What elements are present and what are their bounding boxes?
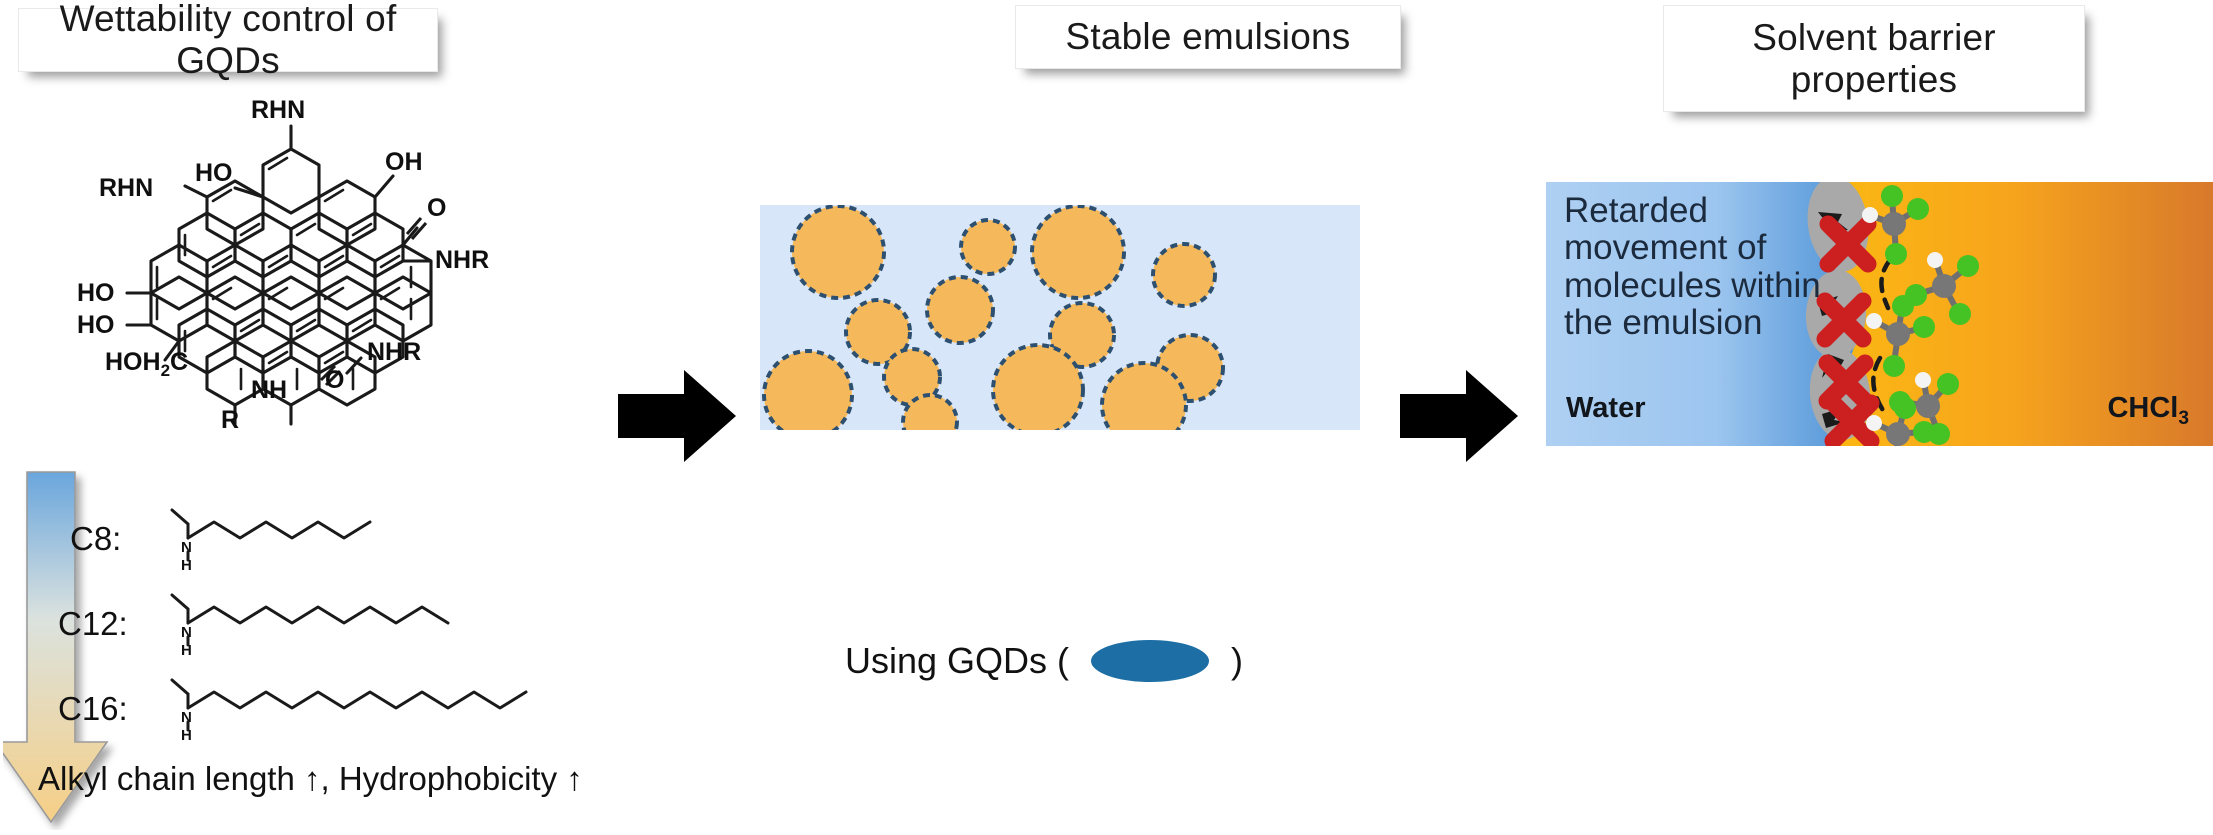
emulsion-droplet (1153, 244, 1215, 306)
emulsion-droplet (1102, 363, 1186, 430)
graphene-lattice (151, 149, 431, 405)
amine-h-label: H (181, 642, 192, 659)
amine-n-label: N (181, 709, 192, 726)
emulsion-droplet (927, 277, 993, 343)
label-ho-left-2: HO (77, 311, 115, 339)
emulsion-droplet (1032, 206, 1124, 298)
gqd-marker-icon (1091, 640, 1209, 682)
label-hoh2c: HOH2C (105, 348, 188, 380)
label-ho-upper: HO (195, 159, 233, 187)
alkyl-chain-c8: N H (170, 500, 420, 580)
solvent-barrier-illustration: Retarded movement of molecules within th… (1546, 182, 2213, 446)
barrier-body-text: Retarded movement of molecules within th… (1564, 192, 1824, 342)
emulsion-caption-suffix: ) (1231, 640, 1243, 682)
label-o-bottom: O (325, 366, 344, 394)
emulsion-caption-prefix: Using GQDs ( (845, 640, 1069, 682)
emulsion-droplet (764, 351, 852, 430)
chcl3-label-main: CHCl (2107, 392, 2178, 424)
alkyl-chain-caption: Alkyl chain length ↑, Hydrophobicity ↑ (38, 760, 583, 798)
emulsion-droplet (993, 345, 1083, 430)
label-ho-left-1: HO (77, 279, 115, 307)
label-r-bottom: R (221, 406, 239, 434)
panel-title-wettability: Wettability control of GQDs (18, 8, 438, 72)
label-nhr-right: NHR (435, 246, 489, 274)
emulsion-droplet (792, 206, 884, 298)
alkyl-chain-c16: N H (170, 670, 590, 750)
water-phase-label: Water (1566, 392, 1646, 425)
chcl3-phase-label: CHCl3 (2107, 392, 2189, 430)
label-oh-top: OH (385, 148, 423, 176)
panel-title-barrier-line1: Solvent barrier (1752, 17, 1996, 58)
amine-n-label: N (181, 624, 192, 641)
label-nhr-lower: NHR (367, 338, 421, 366)
emulsion-droplet-group (764, 206, 1223, 430)
emulsion-caption: Using GQDs ( ) (845, 640, 1243, 682)
emulsion-droplets-svg (760, 205, 1360, 430)
label-rhn-top: RHN (251, 96, 305, 124)
amine-h-label: H (181, 727, 192, 744)
alkyl-chain-c12: N H (170, 585, 500, 665)
panel-title-barrier-text: Solvent barrier properties (1752, 17, 1996, 101)
chain-label-c12: C12: (58, 605, 128, 643)
panel-title-emulsions: Stable emulsions (1015, 5, 1401, 69)
amine-h-label: H (181, 557, 192, 574)
amine-n-label: N (181, 539, 192, 556)
panel-title-emulsions-text: Stable emulsions (1066, 16, 1351, 58)
emulsion-illustration (760, 205, 1360, 430)
chain-label-c16: C16: (58, 690, 128, 728)
panel-title-barrier: Solvent barrier properties (1663, 5, 2085, 112)
label-o-right: O (427, 194, 446, 222)
gqd-molecular-structure: RHN OH HO RHN NHR O HO HO NHR HOH2C O NH… (55, 68, 615, 488)
chcl3-label-sub: 3 (2178, 408, 2189, 429)
emulsion-droplet (961, 220, 1015, 274)
transition-arrow-2-icon (1400, 368, 1520, 464)
label-rhn-left: RHN (99, 174, 153, 202)
transition-arrow-1-icon (618, 368, 738, 464)
label-nh-bottom: NH (251, 376, 287, 404)
chain-label-c8: C8: (70, 520, 121, 558)
panel-title-barrier-line2: properties (1791, 59, 1958, 100)
